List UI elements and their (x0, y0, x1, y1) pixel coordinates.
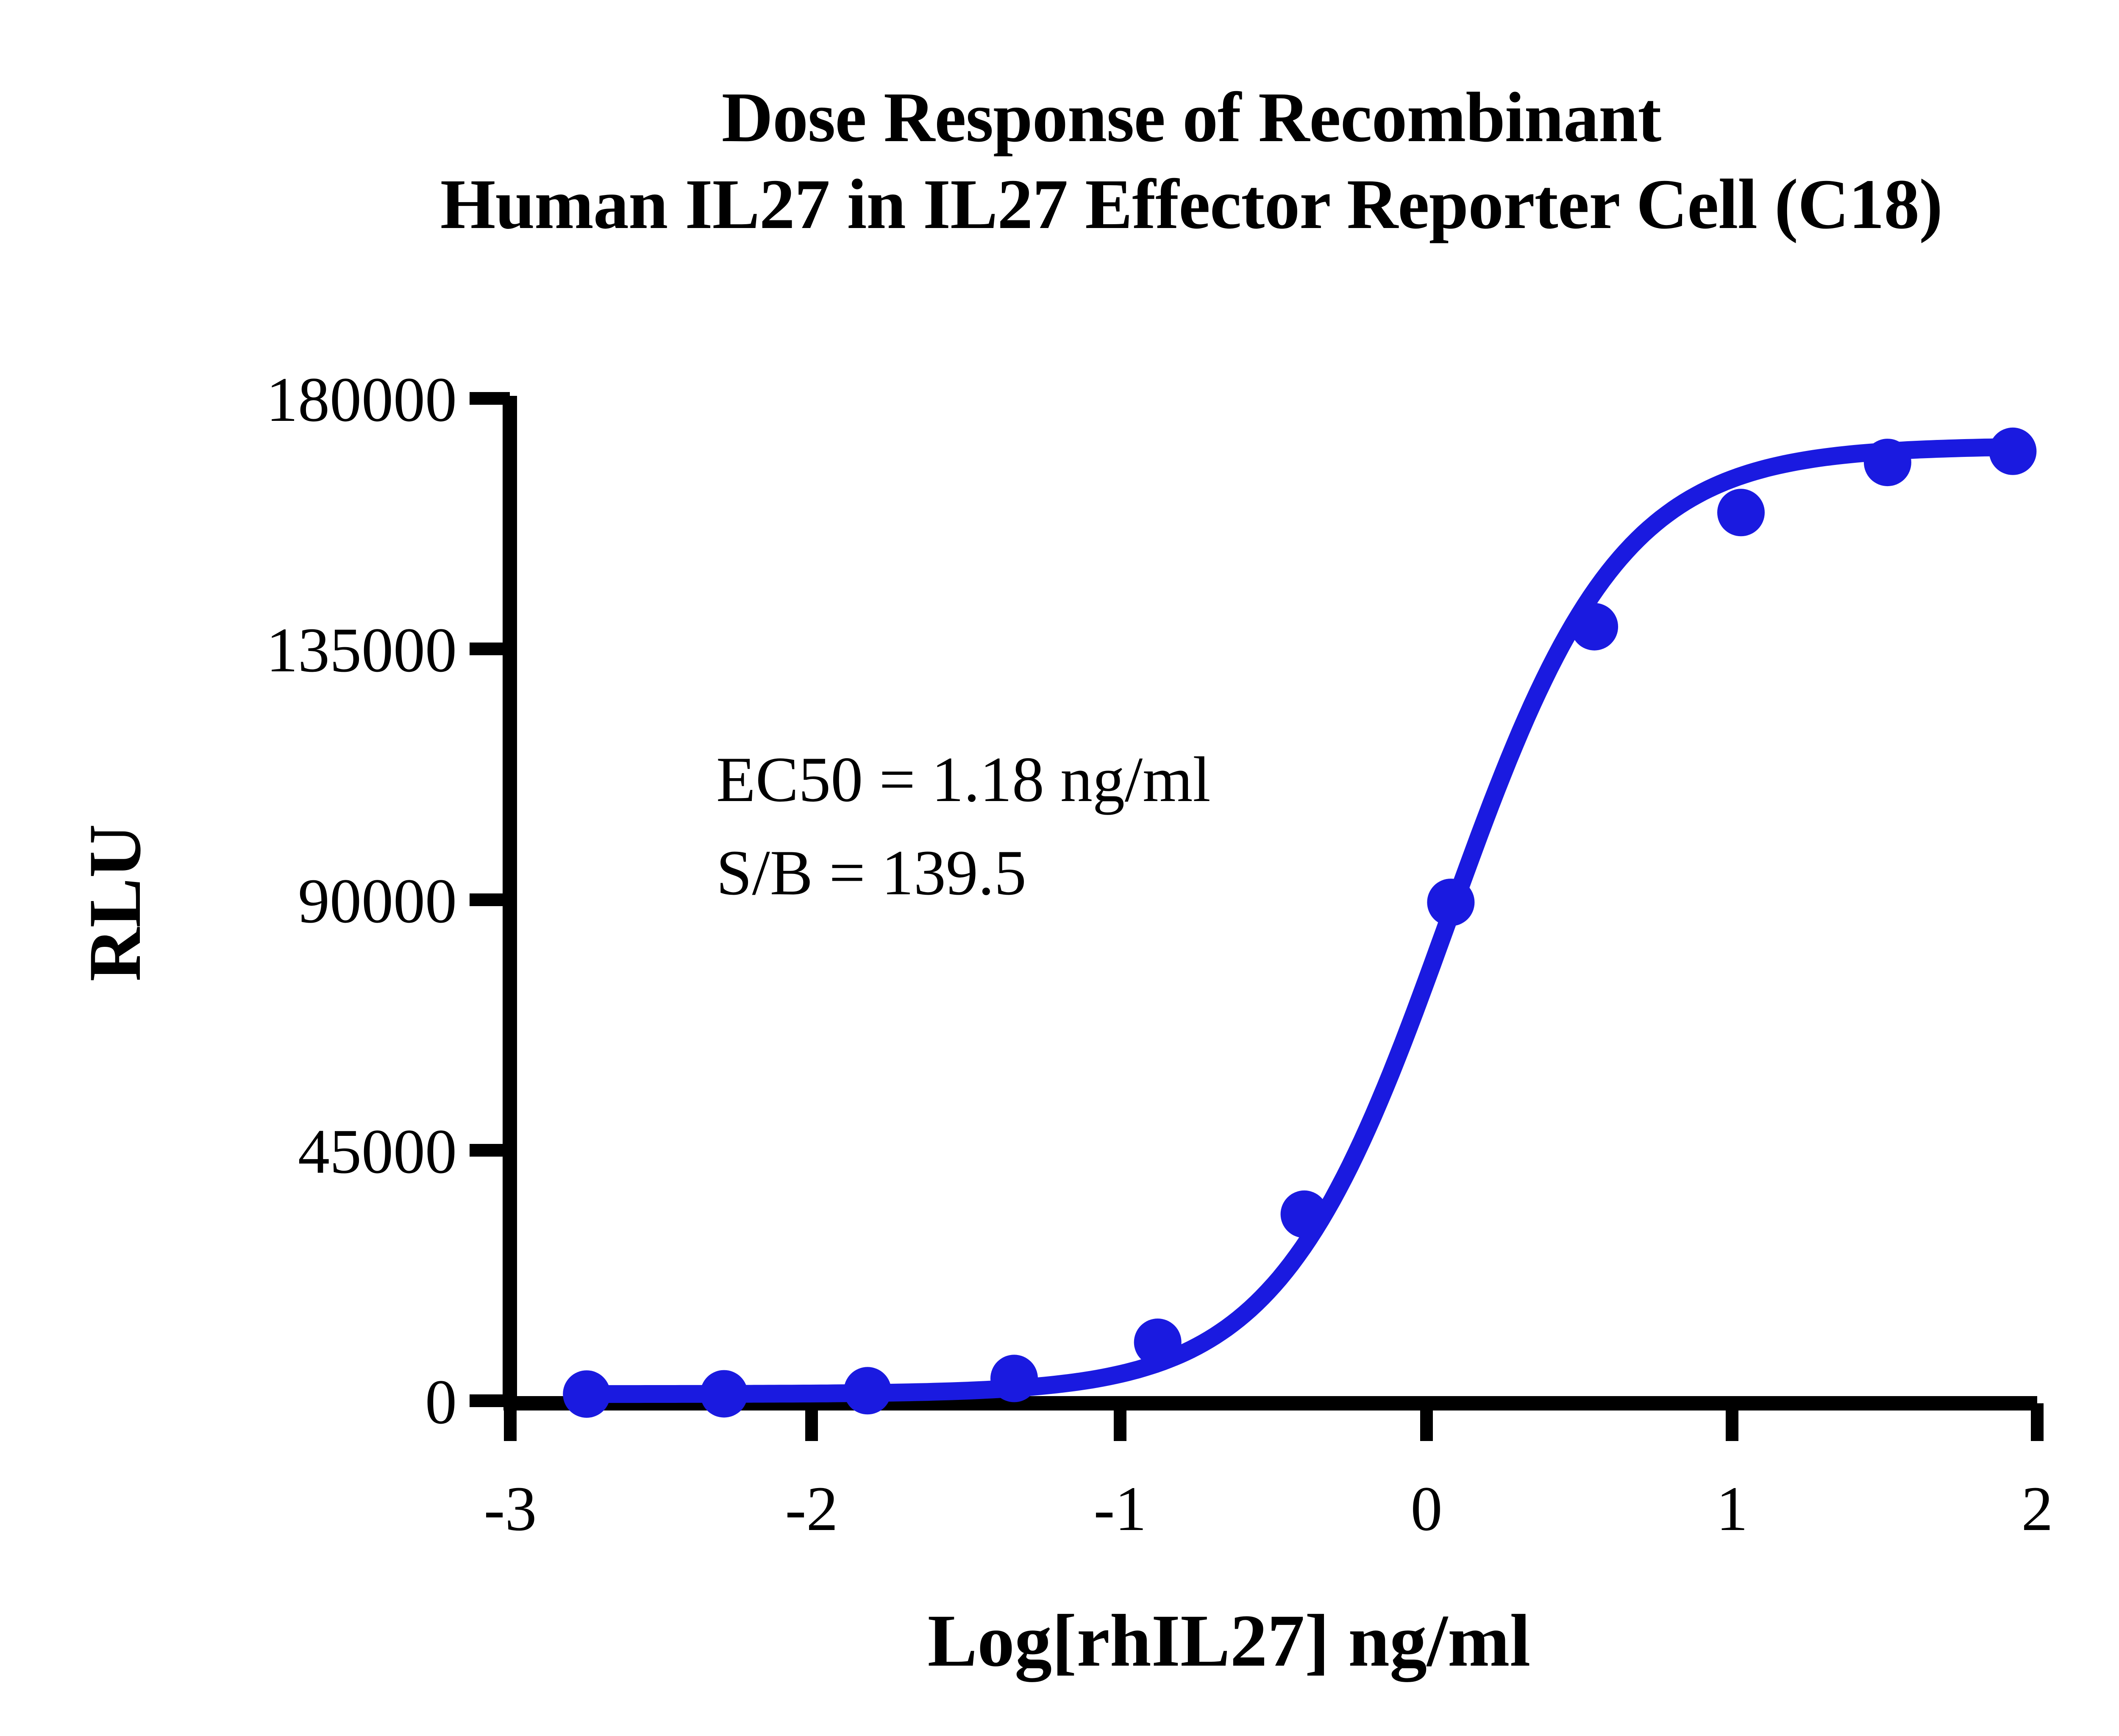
data-point[interactable] (1134, 1319, 1182, 1366)
annotation-block: EC50 = 1.18 ng/ml S/B = 139.5 (716, 744, 1211, 908)
y-tick-label-0: 0 (425, 1367, 457, 1437)
x-axis-title: Log[rhIL27] ng/ml (928, 1600, 1531, 1682)
axes-group (470, 396, 2037, 1441)
chart-page: Dose Response of RecombinantHuman IL27 i… (0, 0, 2119, 1736)
ec50-annotation: EC50 = 1.18 ng/ml (716, 744, 1211, 815)
dose-response-curve (587, 447, 2008, 1394)
data-point[interactable] (1989, 428, 2036, 475)
dose-response-chart: 180000 135000 90000 45000 0 -3 -2 -1 0 1… (0, 0, 2119, 1736)
data-point[interactable] (1281, 1191, 1328, 1238)
x-tick-label-neg3: -3 (484, 1474, 537, 1544)
data-point[interactable] (700, 1370, 748, 1418)
y-axis-title: RLU (74, 824, 156, 982)
y-tick-labels: 180000 135000 90000 45000 0 (266, 364, 457, 1437)
data-point[interactable] (1717, 489, 1765, 536)
x-tick-label-neg2: -2 (785, 1474, 838, 1544)
data-point[interactable] (563, 1370, 610, 1418)
x-tick-label-1: 1 (1716, 1474, 1748, 1544)
data-point[interactable] (844, 1367, 891, 1414)
y-tick-label-180000: 180000 (266, 364, 457, 435)
x-tick-label-neg1: -1 (1094, 1474, 1147, 1544)
x-tick-label-2: 2 (2022, 1474, 2053, 1544)
y-tick-label-135000: 135000 (266, 615, 457, 685)
y-tick-label-45000: 45000 (298, 1116, 457, 1187)
data-point[interactable] (1864, 439, 1911, 486)
sb-annotation: S/B = 139.5 (716, 837, 1026, 908)
data-point[interactable] (990, 1355, 1038, 1402)
data-points-group (563, 428, 2036, 1418)
x-tick-label-0: 0 (1411, 1474, 1443, 1544)
data-point[interactable] (1571, 603, 1618, 651)
x-tick-labels: -3 -2 -1 0 1 2 (484, 1474, 2053, 1544)
data-point[interactable] (1427, 879, 1474, 926)
y-tick-label-90000: 90000 (298, 866, 457, 936)
